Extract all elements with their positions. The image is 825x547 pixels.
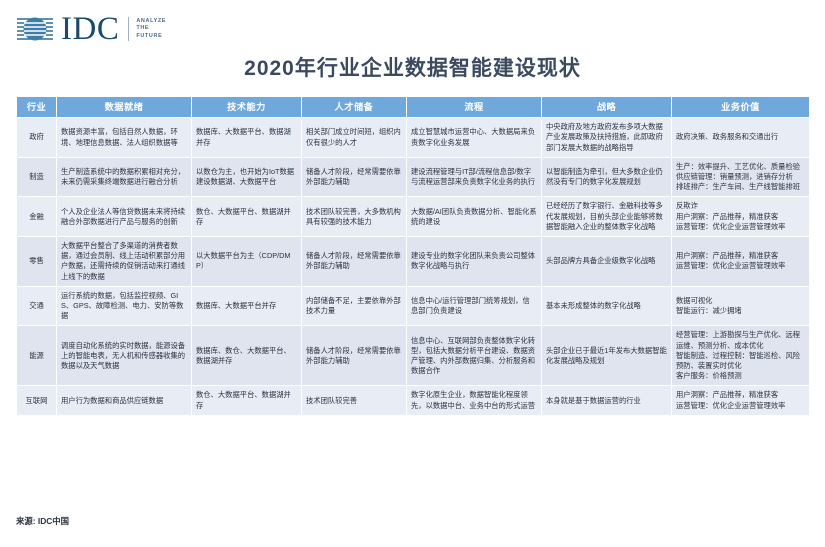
column-header-process: 流程 (407, 97, 542, 118)
cell-industry: 金融 (17, 197, 57, 237)
cell-process: 成立智慧城市运营中心、大数据局来负责数字化业务发展 (407, 118, 542, 158)
cell-business-value: 政府决策、政务服务和交通出行 (672, 118, 810, 158)
cell-strategy: 头部企业已于最近1年发布大数据智能化发展战略及规划 (542, 326, 672, 386)
cell-tech-capability: 数据库、大数据平台并存 (192, 286, 302, 326)
cell-business-value: 用户洞察：产品推荐，精准获客 运营管理：优化企业运营管理效率 (672, 237, 810, 287)
cell-strategy: 以智能制造为牵引，但大多数企业仍然没有专门的数字化发展规划 (542, 157, 672, 197)
logo-divider (128, 17, 129, 41)
column-header-business-value: 业务价值 (672, 97, 810, 118)
column-header-talent-reserve: 人才储备 (302, 97, 407, 118)
cell-talent-reserve: 内部储备不足，主要依靠外部技术力量 (302, 286, 407, 326)
cell-tech-capability: 以数仓为主，也开始为IoT数据建设数据湖、大数据平台 (192, 157, 302, 197)
cell-industry: 政府 (17, 118, 57, 158)
cell-strategy: 头部品牌方具备企业级数字化战略 (542, 237, 672, 287)
table-row: 零售 大数据平台整合了多渠道的消费者数据，通过会员制、线上活动积累部分用户数据，… (17, 237, 810, 287)
cell-business-value: 数据可视化 智能运行：减少拥堵 (672, 286, 810, 326)
cell-strategy: 本身就是基于数据运营的行业 (542, 386, 672, 415)
cell-business-value: 生产：效率提升、工艺优化、质量检验 供应链管理：销量预测，进销存分析 排班排产：… (672, 157, 810, 197)
cell-industry: 能源 (17, 326, 57, 386)
idc-globe-icon (16, 12, 54, 46)
cell-data-readiness: 调度自动化系统的实时数据，能源设备上的智能电表，无人机和传感器收集的数据以及天气… (57, 326, 192, 386)
table-body: 政府 数据资源丰富，包括自然人数据，环境、地理信息数据、法人组织数据等 数据库、… (17, 118, 810, 416)
cell-strategy: 中央政府及地方政府发布多项大数据产业发展政策及扶持措施，此即政府部门发展大数据的… (542, 118, 672, 158)
cell-tech-capability: 以大数据平台为主（CDP/DMP） (192, 237, 302, 287)
cell-data-readiness: 大数据平台整合了多渠道的消费者数据，通过会员制、线上活动积累部分用户数据，还需持… (57, 237, 192, 287)
tagline-line-2: THE (136, 25, 166, 32)
cell-talent-reserve: 相关部门成立时间短，组织内仅有很少的人才 (302, 118, 407, 158)
cell-tech-capability: 数据库、大数据平台、数据湖并存 (192, 118, 302, 158)
cell-talent-reserve: 储备人才阶段，经常需要依靠外部能力辅助 (302, 157, 407, 197)
cell-industry: 交通 (17, 286, 57, 326)
cell-business-value: 经营管理：上游勘探与生产优化、远程运维、预测分析、成本优化 智能制造、过程控制：… (672, 326, 810, 386)
page-title: 2020年行业企业数据智能建设现状 (0, 52, 825, 82)
cell-talent-reserve: 储备人才阶段，经常需要依靠外部能力辅助 (302, 326, 407, 386)
tagline-line-3: FUTURE (136, 33, 166, 40)
table-row: 交通 运行系统的数据，包括监控视频、GIS、GPS、故障检测、电力、安防等数据 … (17, 286, 810, 326)
table-row: 互联网 用户行为数据和商品供应链数据 数仓、大数据平台、数据湖并存 技术团队较完… (17, 386, 810, 415)
cell-tech-capability: 数仓、大数据平台、数据湖并存 (192, 197, 302, 237)
source-note: 来源: IDC中国 (16, 515, 69, 527)
column-header-tech-capability: 技术能力 (192, 97, 302, 118)
cell-tech-capability: 数仓、大数据平台、数据湖并存 (192, 386, 302, 415)
cell-business-value: 反欺诈 用户洞察：产品推荐，精准获客 运营管理：优化企业运营管理效率 (672, 197, 810, 237)
idc-tagline: ANALYZE THE FUTURE (136, 18, 166, 40)
cell-process: 信息中心/运行管理部门统筹规划，信息部门负责建设 (407, 286, 542, 326)
table-row: 金融 个人及企业法人等信贷数据未来将持续融合外部数据进行产品与服务的创新 数仓、… (17, 197, 810, 237)
cell-data-readiness: 运行系统的数据，包括监控视频、GIS、GPS、故障检测、电力、安防等数据 (57, 286, 192, 326)
slide-page: IDC ANALYZE THE FUTURE 2020年行业企业数据智能建设现状… (0, 0, 825, 547)
cell-process: 大数据/AI团队负责数据分析、智能化系统的建设 (407, 197, 542, 237)
cell-talent-reserve: 储备人才阶段，经常需要依靠外部能力辅助 (302, 237, 407, 287)
cell-talent-reserve: 技术团队较完善 (302, 386, 407, 415)
cell-tech-capability: 数据库、数仓、大数据平台、数据湖并存 (192, 326, 302, 386)
cell-process: 建设流程管理与IT部/流程信息部/数字与流程运营部来负责数字化业务的执行 (407, 157, 542, 197)
cell-industry: 零售 (17, 237, 57, 287)
cell-process: 建设专业的数字化团队来负责公司整体数字化战略与执行 (407, 237, 542, 287)
cell-data-readiness: 数据资源丰富，包括自然人数据，环境、地理信息数据、法人组织数据等 (57, 118, 192, 158)
idc-wordmark: IDC (61, 13, 119, 46)
cell-strategy: 基本未形成整体的数字化战略 (542, 286, 672, 326)
cell-business-value: 用户洞察：产品推荐，精准获客 运营管理：优化企业运营管理效率 (672, 386, 810, 415)
column-header-data-readiness: 数据就绪 (57, 97, 192, 118)
cell-industry: 互联网 (17, 386, 57, 415)
column-header-industry: 行业 (17, 97, 57, 118)
cell-process: 信息中心、互联网部负责整体数字化转型，包括大数据分析平台建设、数据资产管理、内外… (407, 326, 542, 386)
table-row: 制造 生产制造系统中的数据积累相对充分，未来仍需采集终端数据进行融合分析 以数仓… (17, 157, 810, 197)
table-header-row: 行业 数据就绪 技术能力 人才储备 流程 战略 业务价值 (17, 97, 810, 118)
cell-data-readiness: 个人及企业法人等信贷数据未来将持续融合外部数据进行产品与服务的创新 (57, 197, 192, 237)
industry-data-table: 行业 数据就绪 技术能力 人才储备 流程 战略 业务价值 政府 数据资源丰富，包… (16, 96, 809, 416)
table-row: 政府 数据资源丰富，包括自然人数据，环境、地理信息数据、法人组织数据等 数据库、… (17, 118, 810, 158)
tagline-line-1: ANALYZE (136, 18, 166, 25)
table-row: 能源 调度自动化系统的实时数据，能源设备上的智能电表，无人机和传感器收集的数据以… (17, 326, 810, 386)
cell-talent-reserve: 技术团队较完善，大多数机构具有较强的技术能力 (302, 197, 407, 237)
cell-data-readiness: 用户行为数据和商品供应链数据 (57, 386, 192, 415)
cell-strategy: 已经经历了数字银行、金融科技等多代发展规划，目前头部企业能够将数据智能融入企业的… (542, 197, 672, 237)
idc-logo: IDC ANALYZE THE FUTURE (16, 10, 166, 48)
cell-data-readiness: 生产制造系统中的数据积累相对充分，未来仍需采集终端数据进行融合分析 (57, 157, 192, 197)
cell-industry: 制造 (17, 157, 57, 197)
column-header-strategy: 战略 (542, 97, 672, 118)
cell-process: 数字化原生企业，数据智能化程度领先，以数据中台、业务中台的形式运营 (407, 386, 542, 415)
